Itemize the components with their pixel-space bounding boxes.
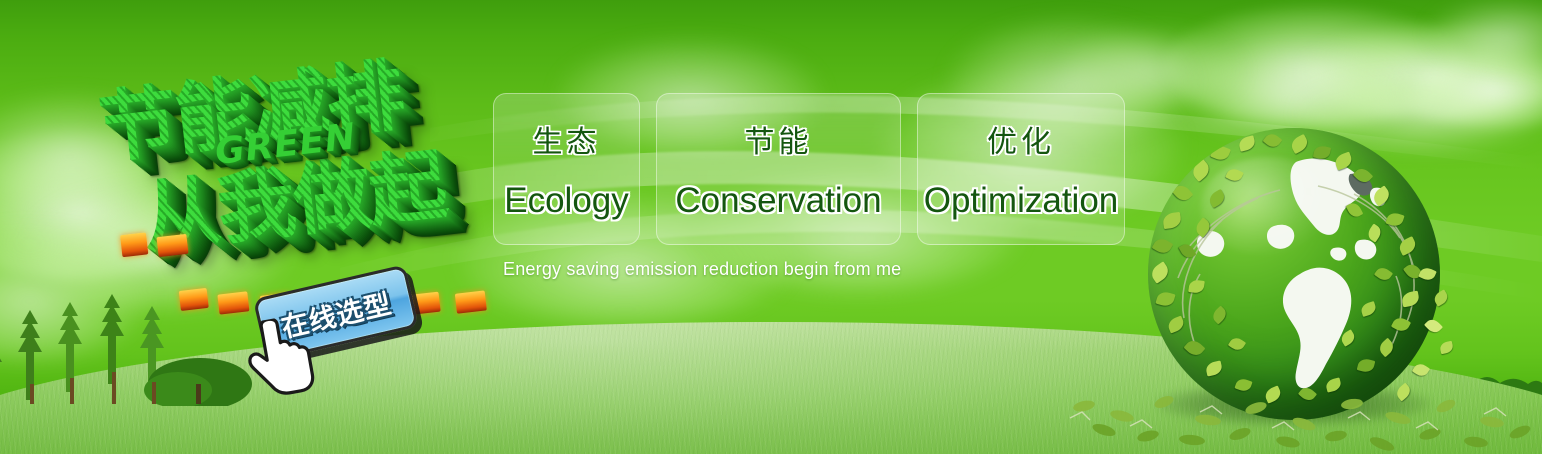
online-selection-label: 在线选型 [277,281,395,344]
feature-card-title-en: Optimization [924,181,1119,221]
feature-card-title-cn: 优化 [987,117,1055,161]
cloud [1430,2,1542,64]
fallen-leaf-litter [1060,378,1542,454]
cloud [1180,52,1410,138]
feature-card-title-cn: 节能 [745,117,813,161]
cloud [1398,48,1542,128]
headline-3d: 节能减排 节能减排 从我做起 从我做起 GREEN [92,12,517,296]
promo-banner: 节能减排 节能减排 从我做起 从我做起 GREEN 在线选型 生态 Ecolog… [0,0,1542,454]
globe-leaf-canopy [1148,128,1440,420]
leaf-globe [1148,128,1440,420]
feature-card-title-en: Ecology [504,181,629,221]
headline-ember [179,288,209,311]
headline-ember [217,291,249,314]
feature-card-title-cn: 生态 [533,117,601,161]
feature-card-title-en: Conservation [675,181,881,221]
globe-sphere [1148,128,1440,420]
headline-ember [120,232,148,257]
cloud [1165,6,1465,126]
feature-card-conservation[interactable]: 节能 Conservation [656,93,901,245]
feature-card-optimization[interactable]: 优化 Optimization [917,93,1125,245]
feature-card-list: 生态 Ecology 节能 Conservation 优化 Optimizati… [493,93,1125,245]
banner-tagline: Energy saving emission reduction begin f… [503,259,901,280]
headline-ember [455,290,487,313]
headline-ember [156,234,188,257]
cloud [1300,24,1542,120]
feature-card-ecology[interactable]: 生态 Ecology [493,93,640,245]
